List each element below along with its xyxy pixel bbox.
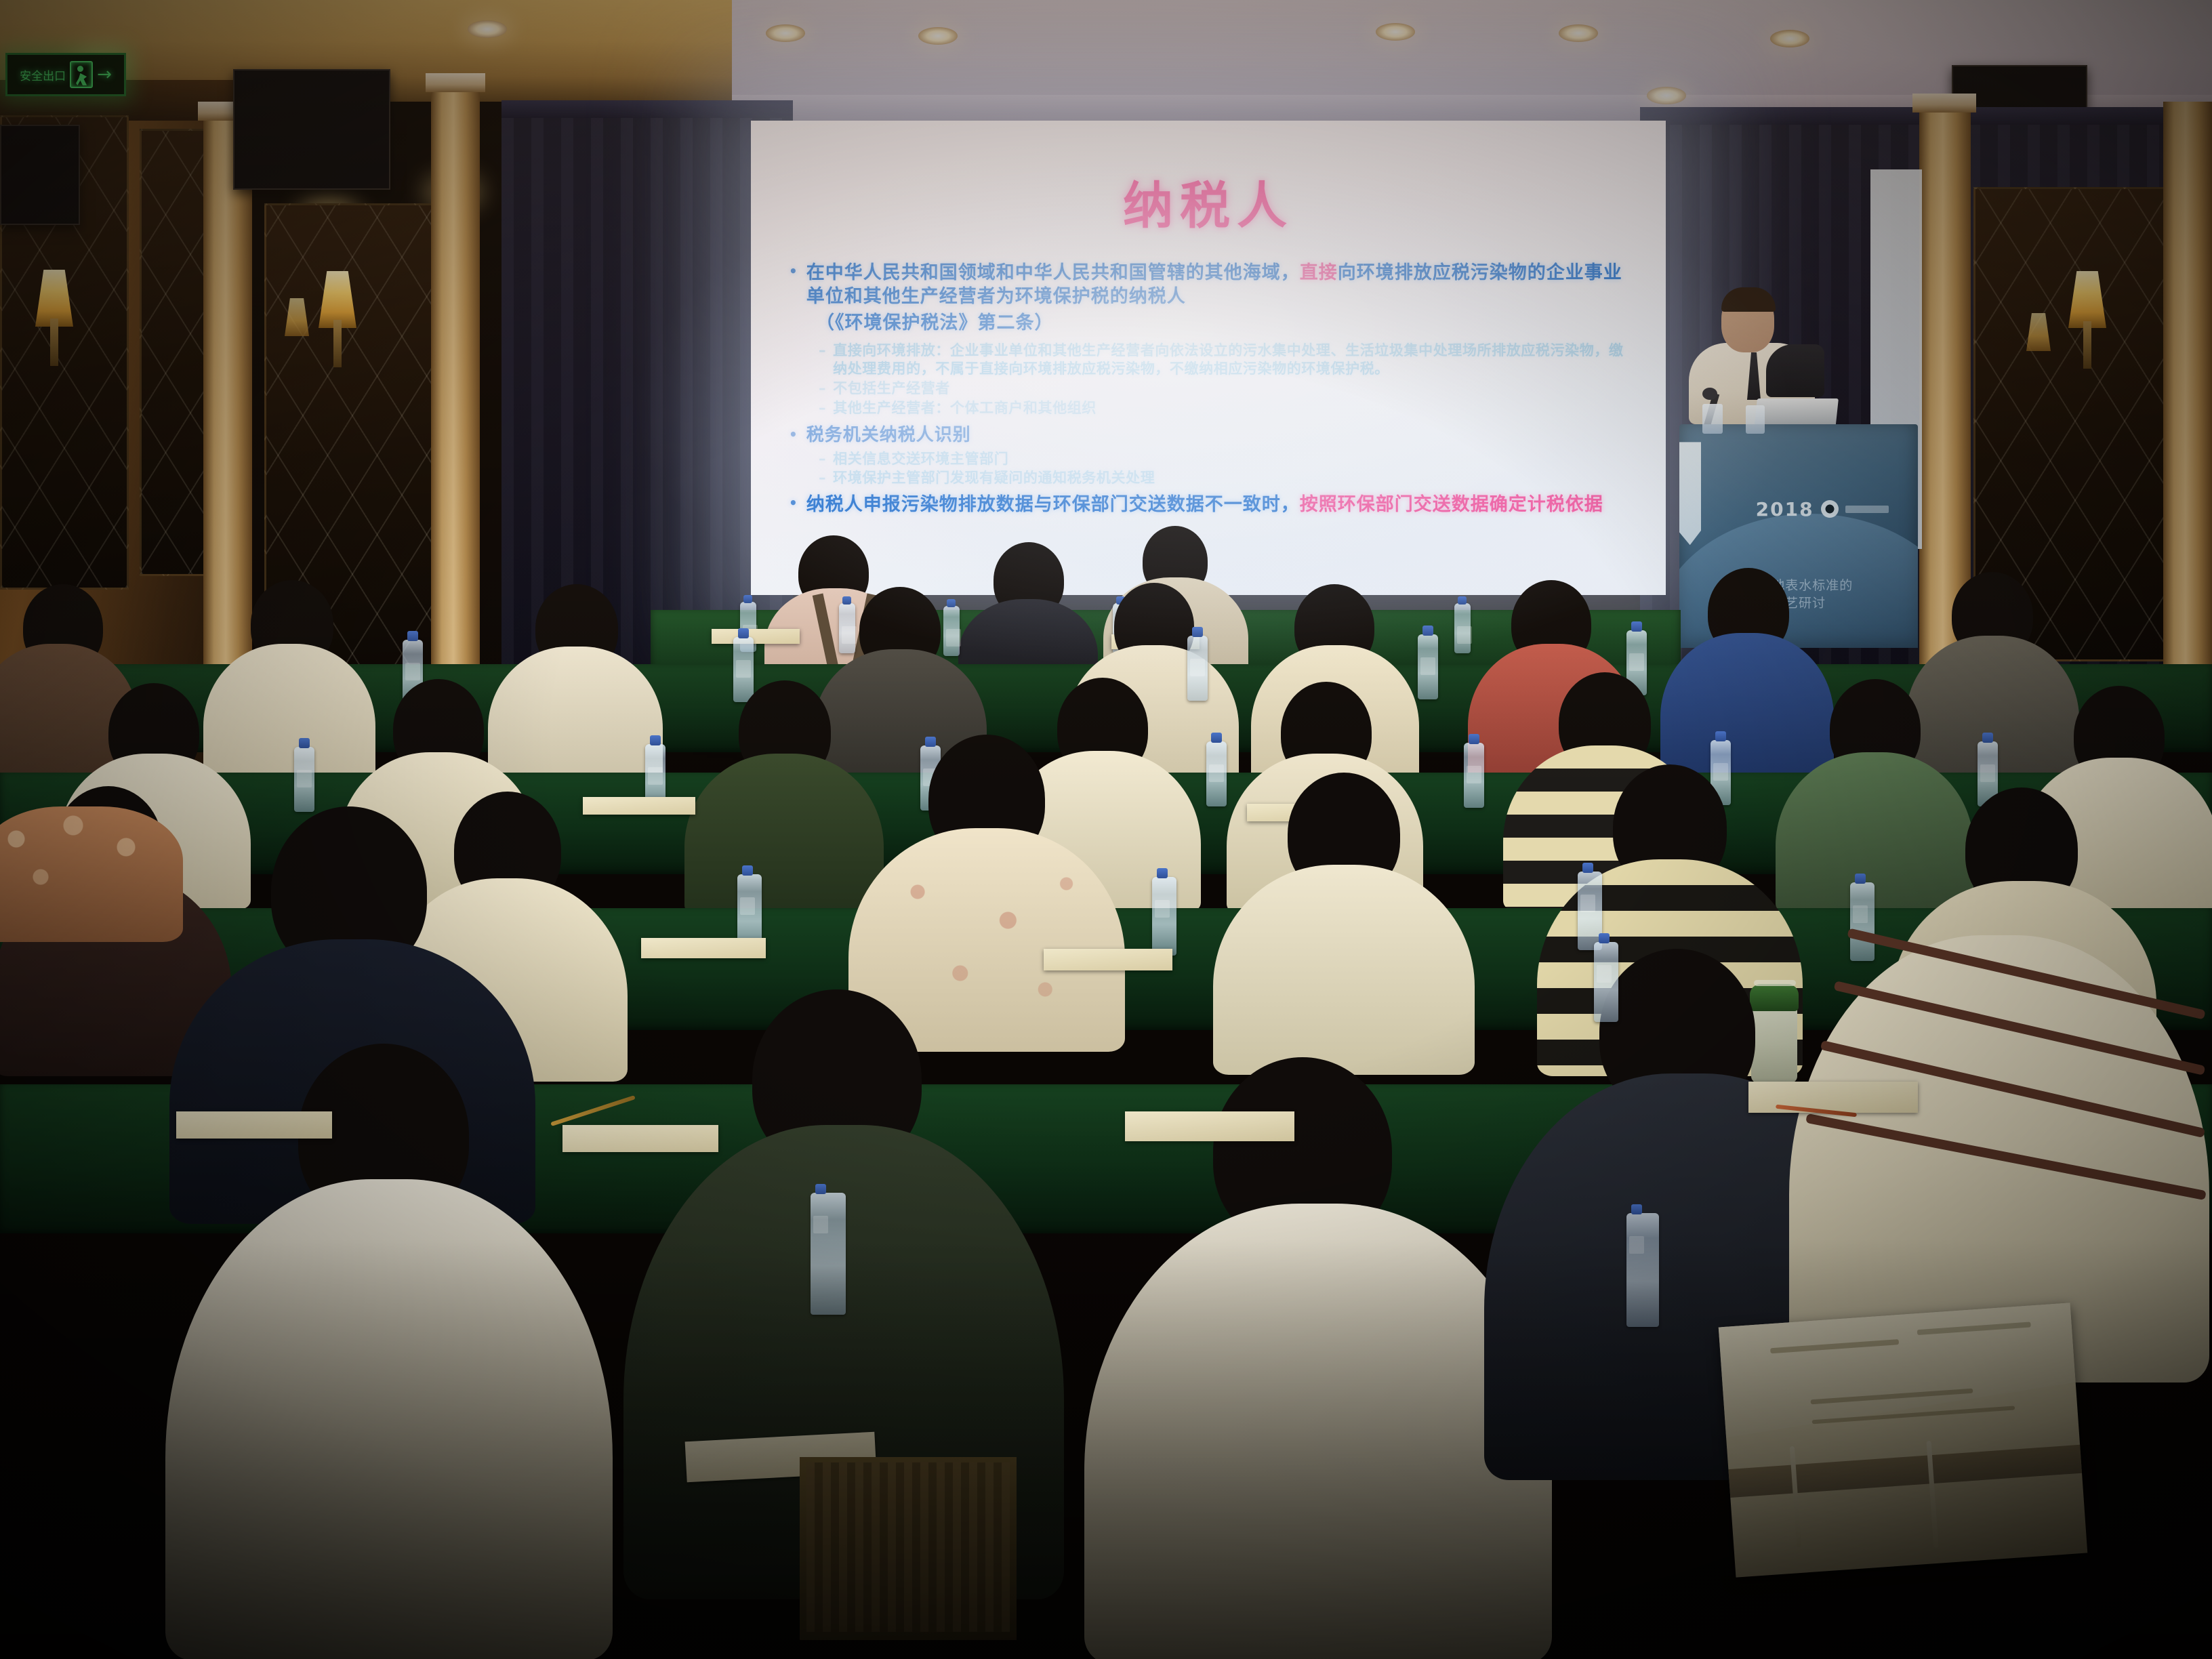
water-glass bbox=[1746, 405, 1765, 434]
slide-title: 纳税人 bbox=[789, 165, 1628, 238]
note-paper bbox=[562, 1125, 718, 1152]
audience-body-front bbox=[165, 1179, 613, 1659]
slide-bullet: • 纳税人申报污染物排放数据与环保部门交送数据不一致时，按照环保部门交送数据确定… bbox=[789, 493, 1628, 516]
water-bottle bbox=[839, 603, 855, 653]
thermos-ring bbox=[1754, 980, 1796, 986]
podium-year-text: 2018 bbox=[1756, 498, 1814, 520]
slide-bullet-continuation: （《环境保护税法》第二条） bbox=[816, 311, 1628, 335]
ceiling-downlight-icon bbox=[766, 24, 805, 42]
water-bottle bbox=[1594, 942, 1618, 1022]
water-bottle bbox=[1152, 877, 1176, 956]
presenter-shoulder bbox=[1766, 344, 1824, 397]
projection-screen: 纳税人 • 在中华人民共和国领域和中华人民共和国管辖的其他海域，直接向环境排放应… bbox=[751, 121, 1666, 595]
slide-bullet: • 在中华人民共和国领域和中华人民共和国管辖的其他海域，直接向环境排放应税污染物… bbox=[789, 261, 1628, 308]
slide-subbullet: – 其他生产经营者：个体工商户和其他组织 bbox=[819, 399, 1628, 417]
water-bottle bbox=[1626, 1213, 1659, 1327]
pillar-capital bbox=[1912, 94, 1976, 112]
water-bottle bbox=[1850, 882, 1875, 961]
slide-content: 纳税人 • 在中华人民共和国领域和中华人民共和国管辖的其他海域，直接向环境排放应… bbox=[751, 121, 1666, 595]
exit-sign-label: 安全出口 bbox=[20, 66, 66, 83]
pillar-capital bbox=[426, 73, 485, 92]
note-paper bbox=[1748, 1082, 1918, 1113]
audience-body bbox=[203, 644, 375, 786]
pa-speaker-box bbox=[0, 125, 80, 225]
sconce-stem bbox=[333, 320, 342, 367]
audience-body bbox=[1213, 865, 1475, 1075]
note-paper bbox=[176, 1111, 332, 1139]
audience-body bbox=[1660, 633, 1834, 778]
microphone-head-icon bbox=[1702, 388, 1717, 400]
audience-body-front bbox=[1084, 1204, 1552, 1659]
audience-floral-blouse bbox=[0, 806, 183, 942]
bullet-text: （《环境保护税法》第二条） bbox=[816, 311, 1054, 335]
water-bottle bbox=[943, 606, 960, 656]
running-person-icon bbox=[70, 61, 93, 88]
exit-arrow-icon: → bbox=[97, 66, 112, 83]
ceiling-downlight-icon bbox=[1559, 24, 1598, 42]
water-bottle bbox=[294, 747, 314, 812]
slide-subbullet: – 环境保护主管部门发现有疑问的通知税务机关处理 bbox=[819, 469, 1628, 487]
emergency-exit-sign: 安全出口 → bbox=[5, 53, 126, 96]
slide-subbullet: – 相关信息交送环境主管部门 bbox=[819, 450, 1628, 468]
bullet-text: 纳税人申报污染物排放数据与环保部门交送数据不一致时，按照环保部门交送数据确定计税… bbox=[806, 493, 1603, 516]
conference-hall-photo: 安全出口 → 纳税人 • 在中华人民共和国领域和中华人 bbox=[0, 0, 2212, 1659]
decorative-pillar bbox=[2163, 102, 2212, 752]
slide-bullet: • 税务机关纳税人识别 bbox=[789, 424, 1628, 447]
thermos-lid bbox=[1750, 984, 1799, 1011]
bullet-dot-icon: • bbox=[789, 261, 798, 282]
subbullet-text: 直接向环境排放：企业事业单位和其他生产经营者向依法设立的污水集中处理、生活垃圾集… bbox=[833, 342, 1628, 378]
ceiling-downlight-icon bbox=[918, 27, 958, 45]
conference-tote-bag bbox=[1719, 1303, 2088, 1577]
subbullet-dash-icon: – bbox=[819, 380, 826, 398]
pa-speaker-box bbox=[233, 69, 390, 190]
water-bottle bbox=[1187, 636, 1208, 701]
ceiling-downlight-icon bbox=[1376, 23, 1415, 41]
tote-lower-band bbox=[1728, 1445, 2082, 1498]
sconce-stem bbox=[2083, 321, 2091, 369]
note-paper bbox=[1125, 1111, 1294, 1141]
ceiling-downlight-icon bbox=[1770, 30, 1809, 47]
circle-logo-icon bbox=[1821, 500, 1839, 518]
water-bottle bbox=[733, 637, 754, 702]
water-bottle bbox=[811, 1193, 846, 1315]
podium-year-logo: 2018 bbox=[1756, 498, 1889, 520]
subbullet-dash-icon: – bbox=[819, 450, 826, 468]
audience-body bbox=[684, 754, 884, 915]
audience-body bbox=[1776, 752, 1973, 914]
subbullet-text: 环境保护主管部门发现有疑问的通知税务机关处理 bbox=[833, 469, 1155, 487]
bullet-text: 税务机关纳税人识别 bbox=[806, 424, 971, 447]
subbullet-text: 不包括生产经营者 bbox=[833, 380, 950, 398]
water-bottle bbox=[1206, 741, 1227, 806]
note-paper bbox=[583, 797, 695, 815]
podium-side-panel bbox=[1679, 442, 1701, 545]
water-glass bbox=[1702, 404, 1723, 434]
subbullet-text: 相关信息交送环境主管部门 bbox=[833, 450, 1008, 468]
subbullet-text: 其他生产经营者：个体工商户和其他组织 bbox=[833, 399, 1097, 417]
water-bottle bbox=[1418, 634, 1438, 699]
subbullet-dash-icon: – bbox=[819, 342, 826, 360]
note-paper bbox=[641, 938, 766, 958]
ceiling-downlight-icon bbox=[1647, 87, 1686, 104]
water-bottle bbox=[1464, 743, 1484, 808]
subbullet-dash-icon: – bbox=[819, 469, 826, 487]
folder-texture bbox=[806, 1462, 1010, 1632]
slide-subbullet: – 直接向环境排放：企业事业单位和其他生产经营者向依法设立的污水集中处理、生活垃… bbox=[819, 342, 1628, 378]
slide-subbullet: – 不包括生产经营者 bbox=[819, 380, 1628, 398]
water-bottle bbox=[1454, 603, 1471, 653]
ceiling-downlight-icon bbox=[468, 20, 507, 38]
bullet-dot-icon: • bbox=[789, 493, 798, 514]
sconce-stem bbox=[50, 319, 58, 366]
audience-body bbox=[488, 647, 663, 787]
bullet-dot-icon: • bbox=[789, 424, 798, 445]
drape-header-left bbox=[501, 100, 793, 118]
bullet-text: 在中华人民共和国领域和中华人民共和国管辖的其他海域，直接向环境排放应税污染物的企… bbox=[806, 261, 1628, 308]
note-paper bbox=[1044, 949, 1172, 970]
note-paper bbox=[712, 629, 800, 644]
decorative-pillar bbox=[431, 81, 480, 718]
subbullet-dash-icon: – bbox=[819, 399, 826, 417]
podium-brand-wordmark bbox=[1845, 506, 1889, 513]
